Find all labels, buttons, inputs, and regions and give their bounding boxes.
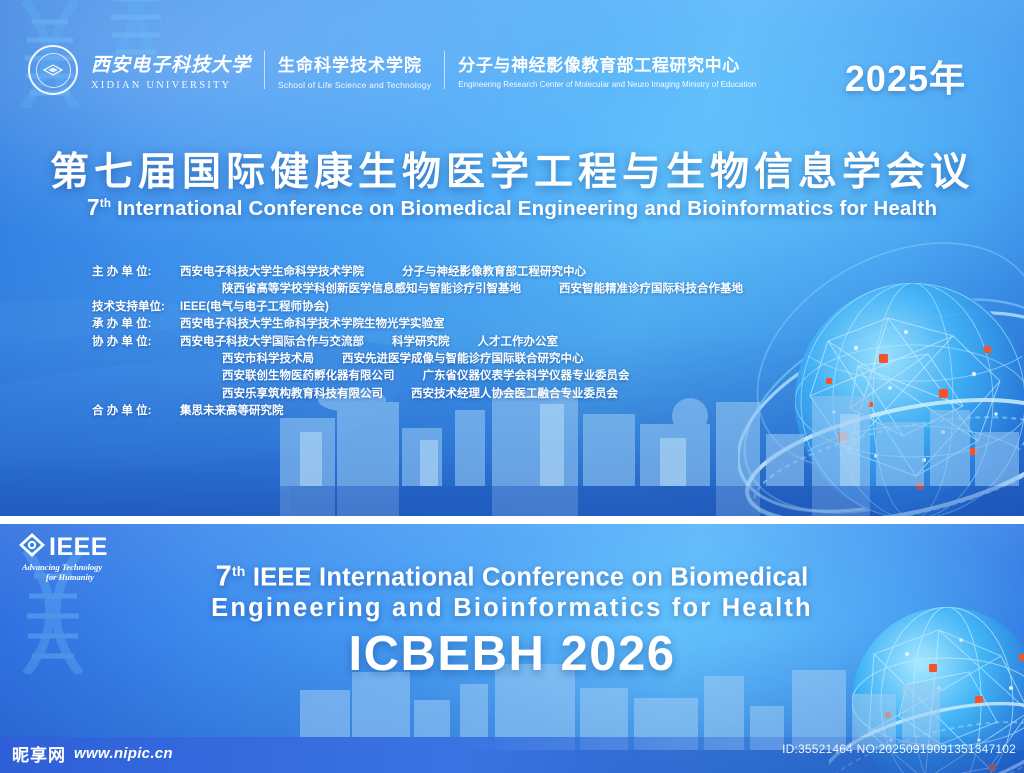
banner-title-line-2: Engineering and Bioinformatics for Healt… xyxy=(0,593,1024,623)
organizer-values: 西安电子科技大学生命科学技术学院 分子与神经影像教育部工程研究中心 xyxy=(180,264,586,281)
organizer-row: 西安乐享筑构教育科技有限公司 西安技术经理人协会医工融合专业委员会 xyxy=(92,386,743,403)
organizer-row: 主 办 单 位: 西安电子科技大学生命科学技术学院 分子与神经影像教育部工程研究… xyxy=(92,264,743,281)
banner-edition-ordinal-suffix: th xyxy=(232,563,246,579)
organizer-value: 西安市科学技术局 xyxy=(222,351,314,368)
conference-title-en-rest: International Conference on Biomedical E… xyxy=(117,197,937,220)
university-name-en: XIDIAN UNIVERSITY xyxy=(91,80,251,91)
seal-emblem-icon xyxy=(43,63,63,77)
banner-title-line-1-text: IEEE International Conference on Biomedi… xyxy=(253,564,809,592)
organizer-values: 西安市科学技术局 西安先进医学成像与智能诊疗国际联合研究中心 xyxy=(180,351,584,368)
conference-title-en: 7th International Conference on Biomedic… xyxy=(0,194,1024,221)
organizer-values: 西安电子科技大学国际合作与交流部 科学研究院 人才工作办公室 xyxy=(180,334,558,351)
center-name-en: Engineering Research Center of Molecular… xyxy=(458,80,756,89)
university-name-cn: 西安电子科技大学 xyxy=(91,50,251,77)
center-name-cn: 分子与神经影像教育部工程研究中心 xyxy=(458,51,756,76)
organizer-label: 合 办 单 位: xyxy=(92,403,180,420)
organizer-row: 技术支持单位: IEEE(电气与电子工程师协会) xyxy=(92,299,743,316)
edition-number: 7 xyxy=(87,194,100,220)
organizer-value: 广东省仪器仪表学会科学仪器专业委员会 xyxy=(423,368,630,385)
poster-canvas: 西安电子科技大学 XIDIAN UNIVERSITY 生命科学技术学院 Scho… xyxy=(0,0,1024,773)
organizer-label: 主 办 单 位: xyxy=(92,264,180,281)
organizer-label: 协 办 单 位: xyxy=(92,334,180,351)
logo-block-university: 西安电子科技大学 XIDIAN UNIVERSITY xyxy=(78,50,264,91)
logo-block-center: 分子与神经影像教育部工程研究中心 Engineering Research Ce… xyxy=(445,51,769,89)
organizer-values: 陕西省高等学校学科创新医学信息感知与智能诊疗引智基地 西安智能精准诊疗国际科技合… xyxy=(180,281,743,298)
organizer-value: 西安技术经理人协会医工融合专业委员会 xyxy=(411,386,618,403)
organizer-list: 主 办 单 位: 西安电子科技大学生命科学技术学院 分子与神经影像教育部工程研究… xyxy=(92,264,743,421)
watermark-site-name-cn: 昵享网 xyxy=(12,741,66,766)
watermark-site-url: www.nipic.cn xyxy=(74,745,173,762)
organizer-value: 科学研究院 xyxy=(392,334,450,351)
organizer-values: 西安电子科技大学生命科学技术学院生物光学实验室 xyxy=(180,316,445,333)
organizer-row: 合 办 单 位: 集思未来高等研究院 xyxy=(92,403,743,420)
organizer-row: 协 办 单 位: 西安电子科技大学国际合作与交流部 科学研究院 人才工作办公室 xyxy=(92,334,743,351)
organizer-value: 西安联创生物医药孵化器有限公司 xyxy=(222,368,395,385)
organizer-value: 西安电子科技大学国际合作与交流部 xyxy=(180,334,364,351)
banner-title-line-1: 7th IEEE International Conference on Bio… xyxy=(0,556,1024,593)
organizer-label: 技术支持单位: xyxy=(92,299,180,316)
top-poster-panel: 西安电子科技大学 XIDIAN UNIVERSITY 生命科学技术学院 Scho… xyxy=(0,0,1024,516)
organizer-row: 承 办 单 位: 西安电子科技大学生命科学技术学院生物光学实验室 xyxy=(92,316,743,333)
organizer-value: 西安先进医学成像与智能诊疗国际联合研究中心 xyxy=(342,351,584,368)
organizer-values: 西安乐享筑构教育科技有限公司 西安技术经理人协会医工融合专业委员会 xyxy=(180,386,618,403)
logo-block-school: 生命科学技术学院 School of Life Science and Tech… xyxy=(265,51,444,90)
image-id-text: ID:35521464 NO:20250919091351347102 xyxy=(782,742,1016,756)
organizer-values: 集思未来高等研究院 xyxy=(180,403,284,420)
organizer-value: 分子与神经影像教育部工程研究中心 xyxy=(402,264,586,281)
organizer-value: 西安智能精准诊疗国际科技合作基地 xyxy=(559,281,743,298)
organizer-row: 西安市科学技术局 西安先进医学成像与智能诊疗国际联合研究中心 xyxy=(92,351,743,368)
school-name-cn: 生命科学技术学院 xyxy=(278,51,431,76)
organizer-values: IEEE(电气与电子工程师协会) xyxy=(180,299,329,316)
organizer-value: 西安电子科技大学生命科学技术学院生物光学实验室 xyxy=(180,316,445,333)
conference-title-cn: 第七届国际健康生物医学工程与生物信息学会议 xyxy=(0,141,1024,197)
organizer-value: IEEE(电气与电子工程师协会) xyxy=(180,299,329,316)
organizer-value: 陕西省高等学校学科创新医学信息感知与智能诊疗引智基地 xyxy=(222,281,521,298)
organizer-value: 西安电子科技大学生命科学技术学院 xyxy=(180,264,364,281)
organizer-row: 西安联创生物医药孵化器有限公司 广东省仪器仪表学会科学仪器专业委员会 xyxy=(92,368,743,385)
edition-ordinal-suffix: th xyxy=(100,198,111,210)
organizer-label: 承 办 单 位: xyxy=(92,316,180,333)
banner-conference-title: 7th IEEE International Conference on Bio… xyxy=(0,556,1024,623)
organizer-values: 西安联创生物医药孵化器有限公司 广东省仪器仪表学会科学仪器专业委员会 xyxy=(180,368,630,385)
header-logo-bar: 西安电子科技大学 XIDIAN UNIVERSITY 生命科学技术学院 Scho… xyxy=(28,45,769,95)
organizer-row: 陕西省高等学校学科创新医学信息感知与智能诊疗引智基地 西安智能精准诊疗国际科技合… xyxy=(92,281,743,298)
organizer-value: 西安乐享筑构教育科技有限公司 xyxy=(222,386,383,403)
organizer-value: 人才工作办公室 xyxy=(478,334,559,351)
banner-edition-number: 7 xyxy=(216,561,232,593)
school-name-en: School of Life Science and Technology xyxy=(278,80,431,90)
organizer-value: 集思未来高等研究院 xyxy=(180,403,284,420)
watermark: 昵享网 www.nipic.cn xyxy=(12,741,173,766)
xidian-university-seal-icon xyxy=(28,45,78,95)
conference-acronym: ICBEBH 2026 xyxy=(0,626,1024,682)
year-badge: 2025年 xyxy=(845,50,966,102)
